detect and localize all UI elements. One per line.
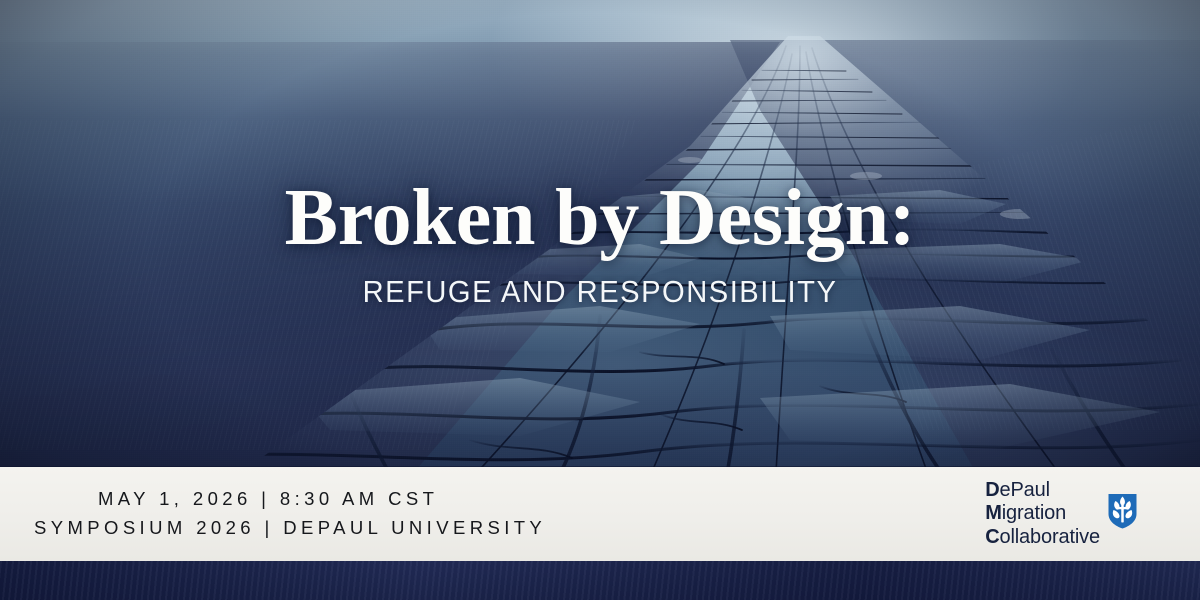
event-details: MAY 1, 2026 | 8:30 AM CST SYMPOSIUM 2026… — [34, 485, 546, 542]
depaul-migration-collaborative-logo[interactable]: DePaul Migration Collaborative — [985, 479, 1138, 549]
logo-line-depaul: DePaul — [985, 479, 1100, 502]
event-info-bar: MAY 1, 2026 | 8:30 AM CST SYMPOSIUM 2026… — [0, 467, 1200, 561]
depaul-shield-crest-icon — [1107, 492, 1138, 530]
logo-lead-d: D — [985, 479, 999, 501]
event-banner: Broken by Design: REFUGE AND RESPONSIBIL… — [0, 0, 1200, 600]
hero-text-block: Broken by Design: REFUGE AND RESPONSIBIL… — [0, 178, 1200, 310]
logo-line-collaborative: Collaborative — [985, 526, 1100, 549]
event-name-venue: SYMPOSIUM 2026 | DEPAUL UNIVERSITY — [34, 514, 546, 543]
logo-lead-c: C — [985, 526, 999, 548]
logo-line-migration: Migration — [985, 502, 1100, 525]
logo-rest-epaul: ePaul — [1000, 479, 1050, 501]
event-date-time: MAY 1, 2026 | 8:30 AM CST — [34, 485, 546, 514]
event-title: Broken by Design: — [0, 178, 1200, 258]
logo-rest-igration: igration — [1002, 502, 1066, 524]
logo-lead-m: M — [985, 502, 1002, 524]
logo-wordmark: DePaul Migration Collaborative — [985, 479, 1100, 549]
logo-rest-ollaborative: ollaborative — [1000, 526, 1101, 548]
bottom-image-strip — [0, 561, 1200, 600]
event-subtitle: REFUGE AND RESPONSIBILITY — [36, 274, 1164, 310]
